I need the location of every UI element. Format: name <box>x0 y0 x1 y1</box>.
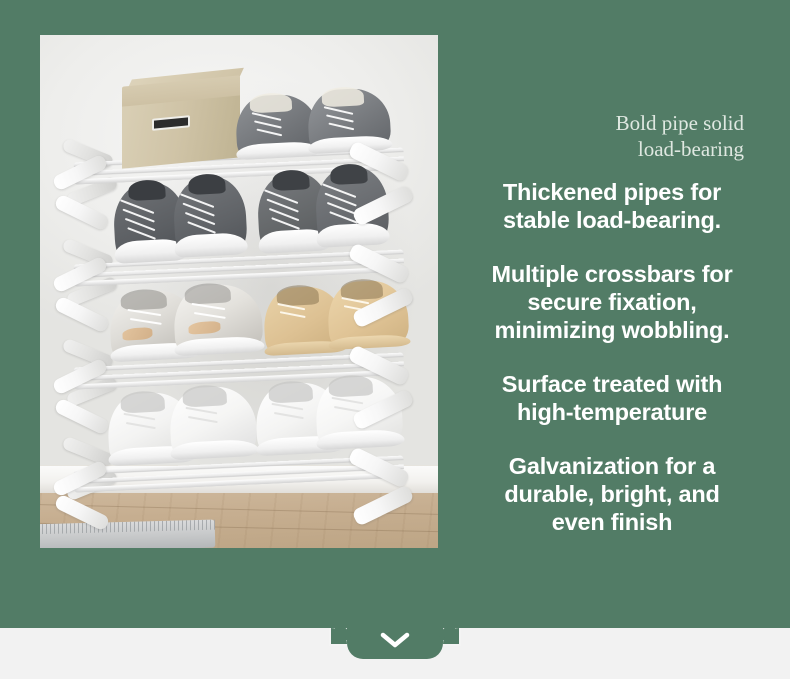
chevron-down-icon[interactable] <box>347 628 443 654</box>
shoe-gray-dress-right <box>306 87 391 153</box>
shoe-runner-2 <box>172 283 263 356</box>
promo-panel: Bold pipe solid load-bearing Thickened p… <box>0 0 790 628</box>
shoe-hightop-2 <box>172 175 248 257</box>
tagline: Bold pipe solid load-bearing <box>452 110 772 162</box>
feature-2: Multiple crossbars for secure fixation, … <box>452 260 772 344</box>
storage-box <box>122 81 240 163</box>
feature-1: Thickened pipes for stable load-bearing. <box>452 178 772 234</box>
shoe-white-2 <box>168 385 258 459</box>
product-photo <box>40 35 438 548</box>
feature-4: Galvanization for a durable, bright, and… <box>452 452 772 536</box>
marketing-copy: Bold pipe solid load-bearing Thickened p… <box>452 110 772 562</box>
feature-3: Surface treated with high-temperature <box>452 370 772 426</box>
